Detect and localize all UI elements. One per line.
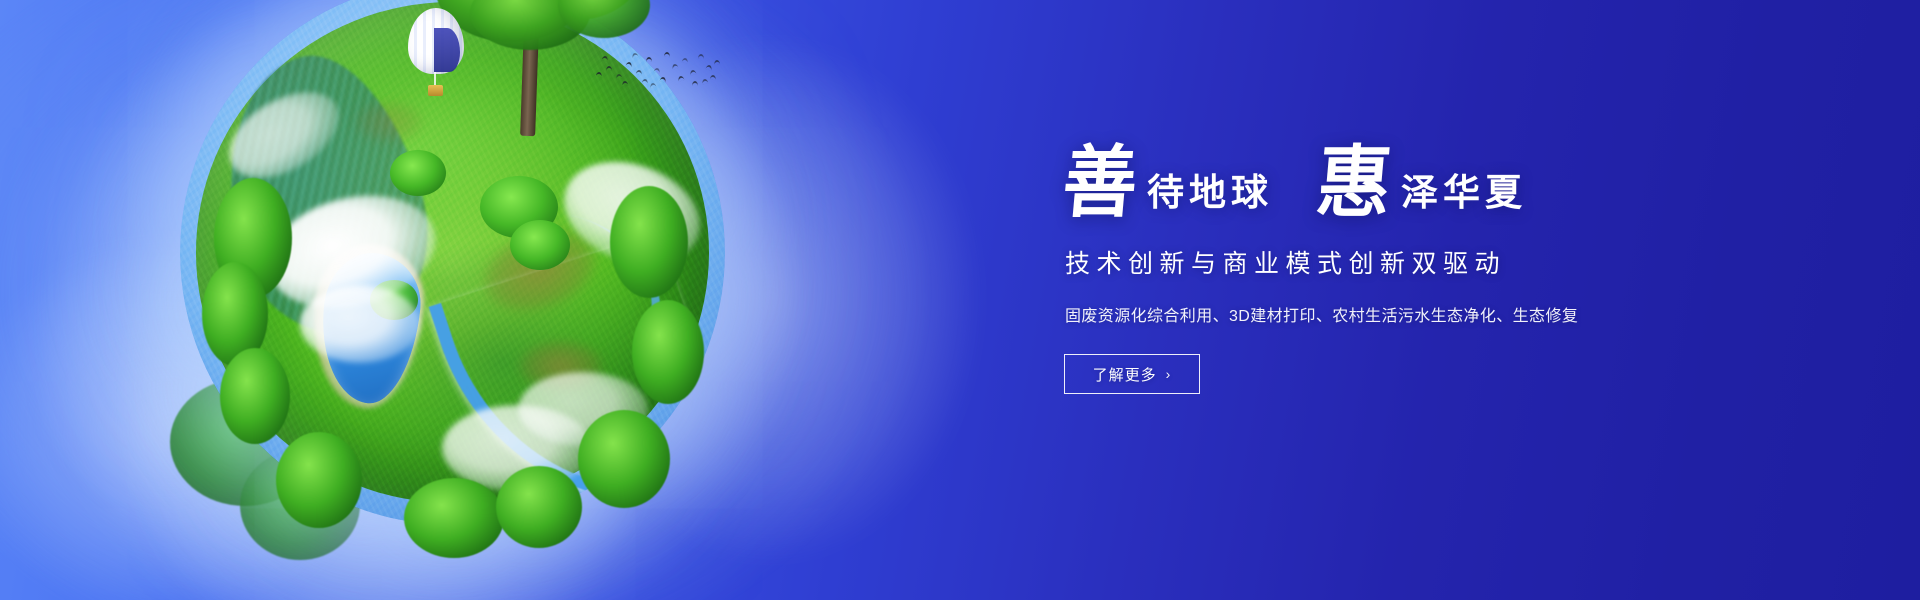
bird-icon <box>649 82 656 88</box>
bird-icon <box>606 66 612 71</box>
hero-description: 固废资源化综合利用、3D建材打印、农村生活污水生态净化、生态修复 <box>1065 302 1763 326</box>
bird-icon <box>705 64 712 71</box>
rim-tree <box>276 432 362 528</box>
headline-lead-char: 惠 <box>1314 148 1394 220</box>
rim-tree <box>610 186 688 298</box>
headline-lead-char: 善 <box>1060 148 1140 220</box>
chevron-right-icon: › <box>1166 366 1172 382</box>
learn-more-button[interactable]: 了解更多 › <box>1064 354 1200 394</box>
bird-icon <box>625 61 632 68</box>
bush <box>510 220 570 270</box>
hero-subtitle: 技术创新与商业模式创新双驱动 <box>1065 244 1763 280</box>
bird-icon <box>622 81 629 87</box>
headline-segment-2: 惠 泽华夏 <box>1317 150 1527 218</box>
bird-icon <box>671 63 678 70</box>
bird-icon <box>602 56 609 62</box>
bird-icon <box>710 75 716 81</box>
hero-banner: 善 待地球 惠 泽华夏 技术创新与商业模式创新双驱动 固废资源化综合利用、3D建… <box>0 0 1920 600</box>
balloon-basket <box>428 85 443 96</box>
learn-more-label: 了解更多 <box>1093 364 1157 385</box>
bird-icon <box>659 76 666 82</box>
headline-segment-1: 善 待地球 <box>1063 150 1273 218</box>
balloon-stripe <box>434 28 460 72</box>
bird-icon <box>664 52 670 57</box>
bird-icon <box>596 72 603 78</box>
rim-tree <box>220 348 290 444</box>
rim-tree <box>578 410 670 508</box>
bird-icon <box>642 79 649 85</box>
bird-icon <box>677 75 684 82</box>
soil-patch <box>354 100 424 144</box>
rim-tree <box>404 478 504 558</box>
page-title: 善 待地球 惠 泽华夏 <box>1063 150 1763 218</box>
bird-icon <box>689 69 696 75</box>
bird-flock <box>592 48 722 94</box>
bird-icon <box>616 73 623 79</box>
bird-icon <box>653 67 660 73</box>
rim-tree <box>632 300 704 404</box>
cloud <box>300 285 420 363</box>
bird-icon <box>682 58 689 64</box>
bird-icon <box>698 54 704 59</box>
rim-tree <box>496 466 582 548</box>
headline-rest-text: 泽华夏 <box>1401 175 1527 218</box>
bird-icon <box>702 79 709 85</box>
hero-content: 善 待地球 惠 泽华夏 技术创新与商业模式创新双驱动 固废资源化综合利用、3D建… <box>1063 150 1763 394</box>
bird-icon <box>692 81 698 86</box>
bird-icon <box>636 70 643 76</box>
bush <box>390 150 446 196</box>
headline-rest-text: 待地球 <box>1147 175 1273 218</box>
hot-air-balloon-icon <box>408 8 464 100</box>
balloon-rope <box>434 72 436 86</box>
bird-icon <box>646 57 652 62</box>
bird-icon <box>631 52 638 59</box>
bird-icon <box>714 60 720 66</box>
